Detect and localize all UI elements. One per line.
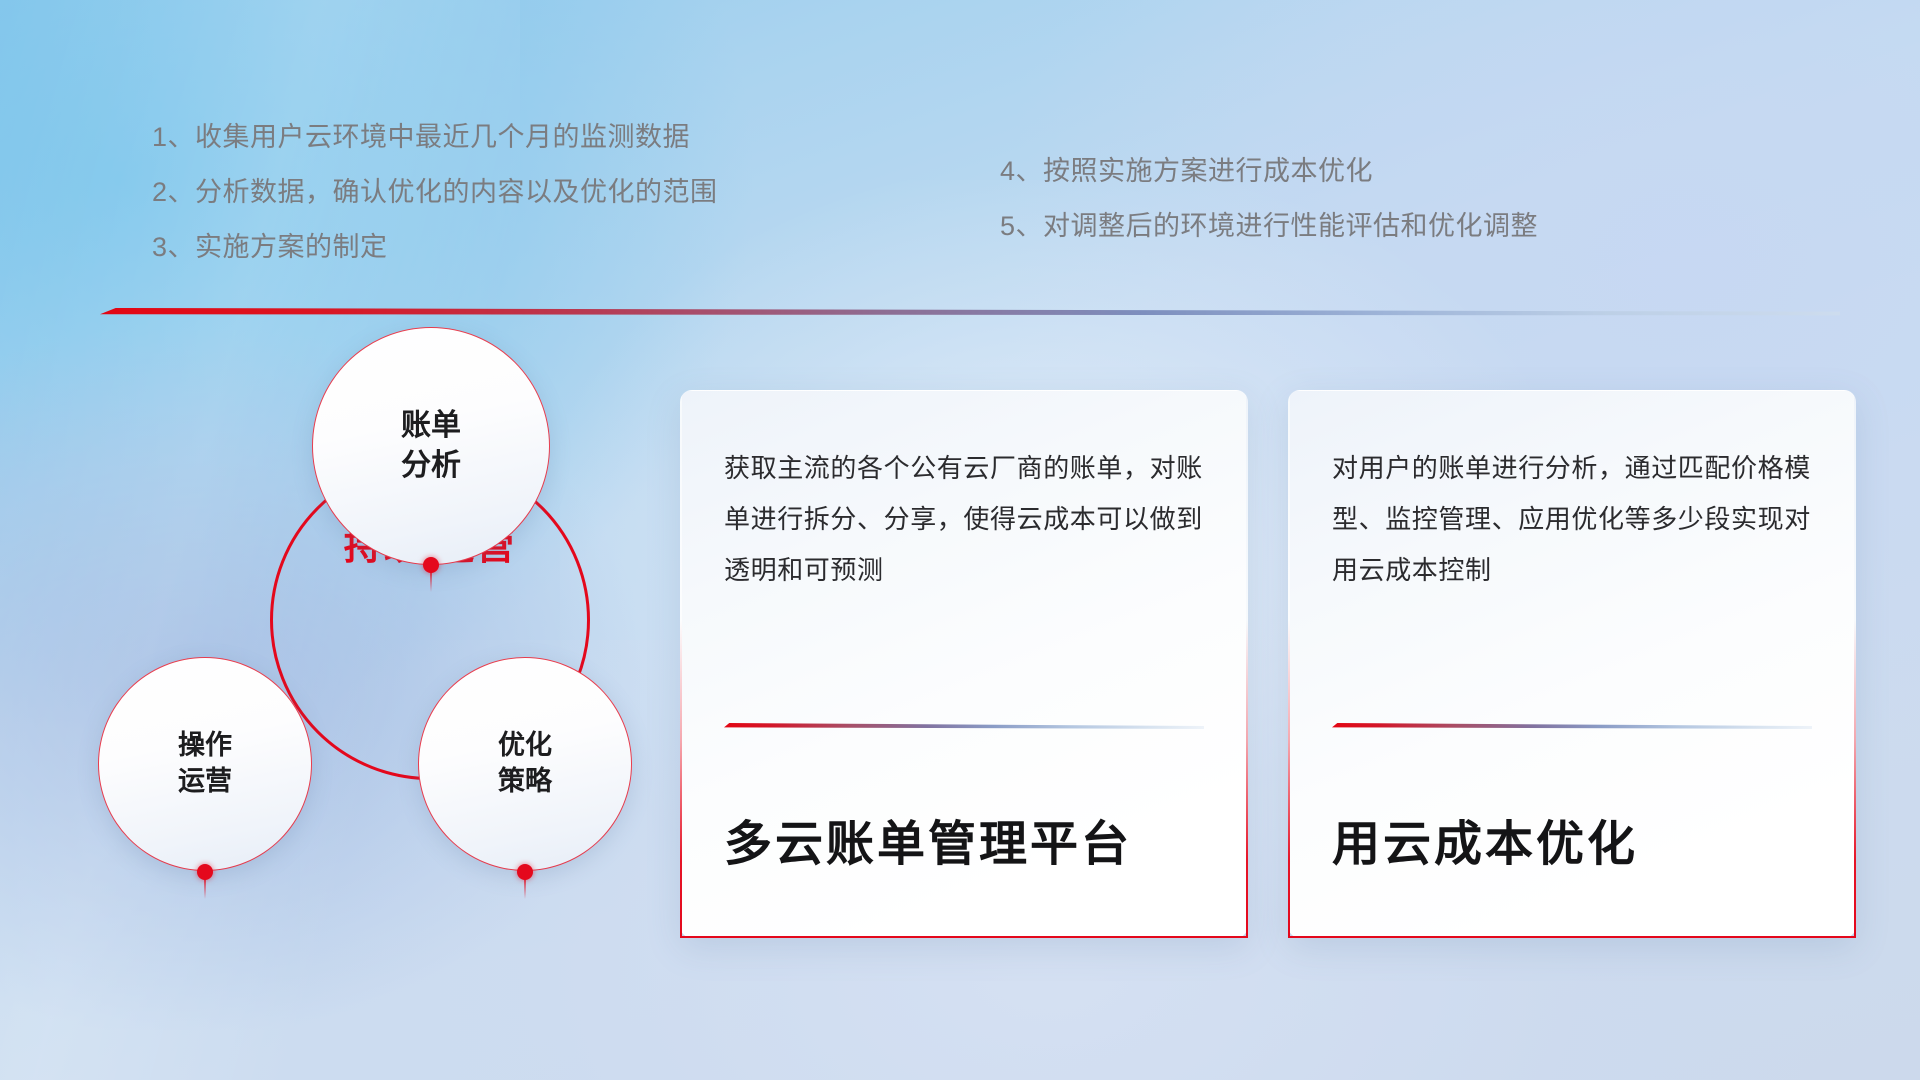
card-2-title: 用云成本优化 <box>1332 804 1812 874</box>
card-1-body: 获取主流的各个公有云厂商的账单，对账单进行拆分、分享，使得云成本可以做到透明和可… <box>724 443 1204 679</box>
cycle-marker-dot-right-icon <box>517 864 533 880</box>
card-cloud-cost-optimization[interactable]: 对用户的账单进行分析，通过匹配价格模型、监控管理、应用优化等多少段实现对用云成本… <box>1288 390 1856 938</box>
cycle-marker-dot-top-icon <box>423 557 439 573</box>
cycle-node-optimization-strategy-line1: 优化 <box>498 728 552 764</box>
steps-section: 1、收集用户云环境中最近几个月的监测数据 2、分析数据，确认优化的内容以及优化的… <box>0 110 1920 290</box>
card-multi-cloud-billing-platform[interactable]: 获取主流的各个公有云厂商的账单，对账单进行拆分、分享，使得云成本可以做到透明和可… <box>680 390 1248 938</box>
cycle-marker-dot-left-icon <box>197 864 213 880</box>
step-item-2: 2、分析数据，确认优化的内容以及优化的范围 <box>152 165 718 220</box>
cycle-node-billing-analysis-line2: 分析 <box>401 446 461 486</box>
cycle-node-billing-analysis[interactable]: 账单 分析 <box>312 327 550 565</box>
cycle-node-operations[interactable]: 操作 运营 <box>98 657 312 871</box>
cycle-node-optimization-strategy[interactable]: 优化 策略 <box>418 657 632 871</box>
step-item-5: 5、对调整后的环境进行性能评估和优化调整 <box>1000 199 1538 254</box>
header-divider-gradient-bar <box>100 308 1840 320</box>
card-1-title: 多云账单管理平台 <box>724 804 1204 874</box>
header-divider <box>100 308 1840 322</box>
cycle-node-operations-line1: 操作 <box>178 728 232 764</box>
step-item-4: 4、按照实施方案进行成本优化 <box>1000 144 1538 199</box>
steps-column-right: 4、按照实施方案进行成本优化 5、对调整后的环境进行性能评估和优化调整 <box>1000 144 1538 254</box>
slide-root: 1、收集用户云环境中最近几个月的监测数据 2、分析数据，确认优化的内容以及优化的… <box>0 0 1920 1080</box>
step-item-1: 1、收集用户云环境中最近几个月的监测数据 <box>152 110 718 165</box>
card-1-rule <box>724 723 1204 732</box>
card-2-inner: 对用户的账单进行分析，通过匹配价格模型、监控管理、应用优化等多少段实现对用云成本… <box>1290 391 1854 936</box>
step-item-3: 3、实施方案的制定 <box>152 220 718 275</box>
cycle-node-operations-line2: 运营 <box>178 764 232 800</box>
card-1-inner: 获取主流的各个公有云厂商的账单，对账单进行拆分、分享，使得云成本可以做到透明和可… <box>682 391 1246 936</box>
cycle-node-optimization-strategy-line2: 策略 <box>498 764 552 800</box>
cycle-diagram: 持续 运营 账单 分析 操作 运营 优化 策略 <box>80 345 670 945</box>
card-2-body: 对用户的账单进行分析，通过匹配价格模型、监控管理、应用优化等多少段实现对用云成本… <box>1332 443 1812 679</box>
card-2-rule <box>1332 723 1812 732</box>
cycle-node-billing-analysis-line1: 账单 <box>401 406 461 446</box>
steps-column-left: 1、收集用户云环境中最近几个月的监测数据 2、分析数据，确认优化的内容以及优化的… <box>152 110 718 275</box>
